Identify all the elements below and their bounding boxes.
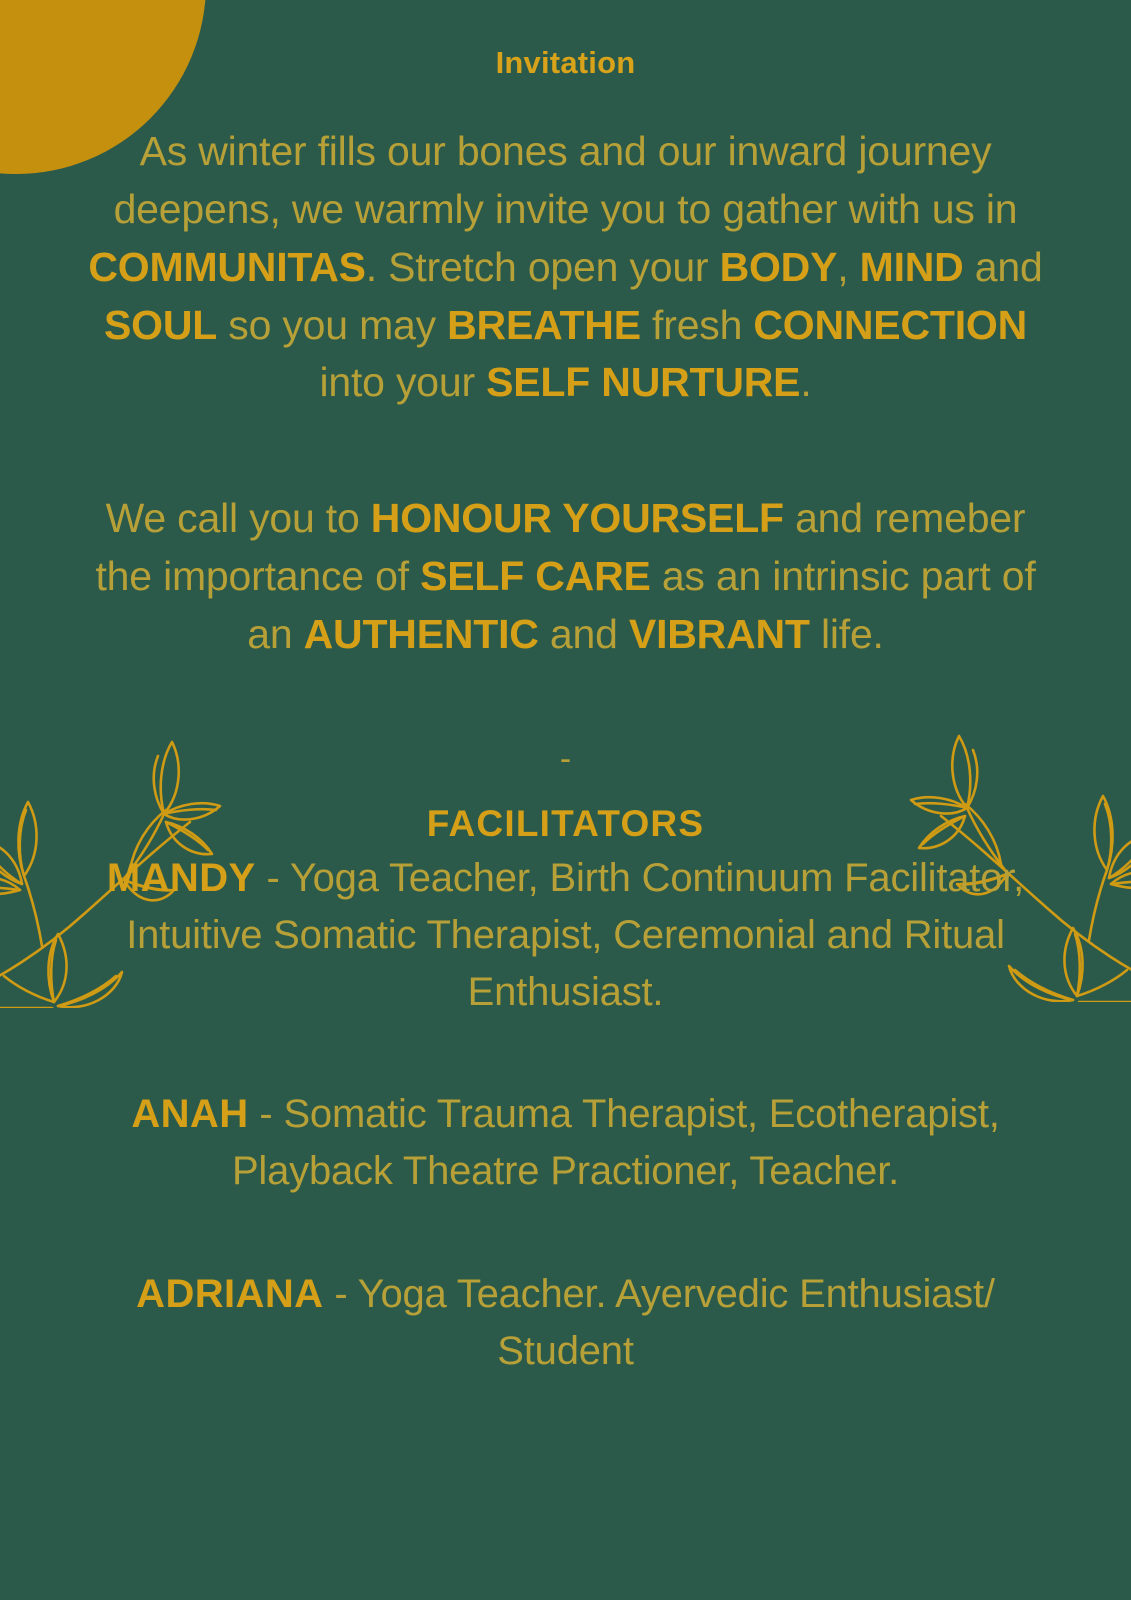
emphasis-text: MIND: [860, 244, 964, 290]
facilitator-name-mandy: MANDY: [107, 856, 256, 900]
emphasis-text: SELF CARE: [420, 553, 651, 599]
body-text: and: [964, 244, 1043, 290]
emphasis-text: VIBRANT: [629, 611, 810, 657]
invitation-paragraph-2: We call you to HONOUR YOURSELF and remeb…: [62, 490, 1069, 663]
facilitators-heading: FACILITATORS: [62, 802, 1069, 846]
facilitator-spacer-2: [62, 1200, 1069, 1262]
facilitator-name-anah: ANAH: [131, 1092, 248, 1136]
body-text: fresh: [641, 302, 754, 348]
facilitator-entry-anah: ANAH - Somatic Trauma Therapist, Ecother…: [62, 1086, 1069, 1200]
body-text: As winter fills our bones and our inward…: [114, 128, 1018, 232]
body-text: .: [800, 359, 811, 405]
body-text: life.: [810, 611, 884, 657]
paragraph-spacer-1: [62, 412, 1069, 490]
paragraph-spacer-2: [62, 664, 1069, 742]
emphasis-text: BODY: [720, 244, 838, 290]
emphasis-text: SOUL: [104, 302, 217, 348]
body-text: and: [539, 611, 629, 657]
facilitator-description-adriana: Yoga Teacher. Ayervedic Enthusiast/ Stud…: [358, 1272, 995, 1373]
emphasis-text: BREATHE: [447, 302, 641, 348]
body-text: We call you to: [106, 495, 371, 541]
emphasis-text: AUTHENTIC: [304, 611, 539, 657]
body-text: . Stretch open your: [366, 244, 720, 290]
facilitator-description-anah: Somatic Trauma Therapist, Ecotherapist, …: [232, 1092, 1000, 1193]
divider-dash: -: [62, 742, 1069, 776]
facilitator-separator-mandy: -: [256, 856, 290, 900]
facilitator-spacer-1: [62, 1020, 1069, 1082]
emphasis-text: CONNECTION: [753, 302, 1027, 348]
facilitator-entry-adriana: ADRIANA - Yoga Teacher. Ayervedic Enthus…: [62, 1266, 1069, 1380]
emphasis-text: SELF NURTURE: [486, 359, 800, 405]
page-title: Invitation: [62, 44, 1069, 81]
facilitator-separator-anah: -: [248, 1092, 283, 1136]
body-text: so you may: [217, 302, 447, 348]
emphasis-text: HONOUR YOURSELF: [371, 495, 784, 541]
body-text: ,: [837, 244, 859, 290]
facilitator-entry-mandy: MANDY - Yoga Teacher, Birth Continuum Fa…: [62, 850, 1069, 1020]
poster-content: Invitation As winter fills our bones and…: [0, 0, 1131, 1600]
invitation-poster: Invitation As winter fills our bones and…: [0, 0, 1131, 1600]
facilitator-separator-adriana: -: [323, 1272, 357, 1316]
emphasis-text: COMMUNITAS: [88, 244, 365, 290]
invitation-paragraph-1: As winter fills our bones and our inward…: [62, 123, 1069, 412]
facilitator-name-adriana: ADRIANA: [136, 1272, 323, 1316]
body-text: into your: [319, 359, 486, 405]
